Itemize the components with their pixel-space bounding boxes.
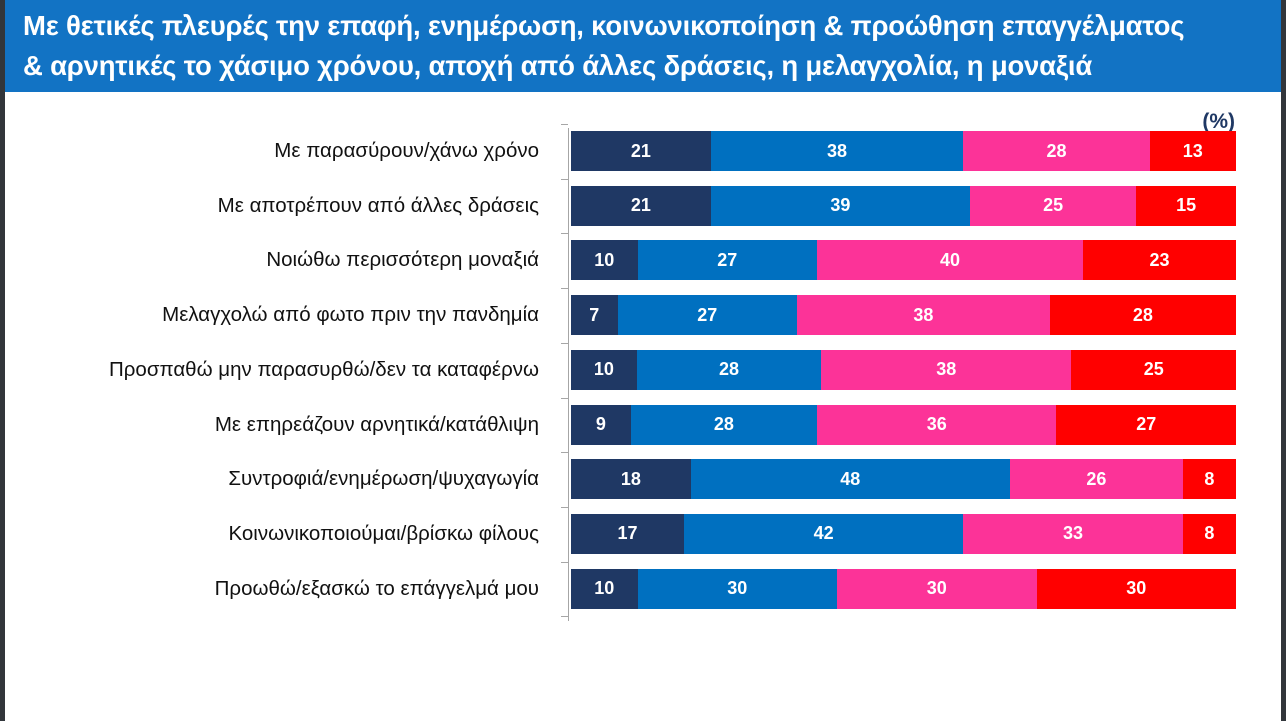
axis-tick [561, 124, 568, 125]
category-label: Με παρασύρουν/χάνω χρόνο [274, 131, 539, 171]
slide-title-line-1: Με θετικές πλευρές την επαφή, ενημέρωση,… [23, 6, 1267, 46]
slide-title-line-2: & αρνητικές το χάσιμο χρόνου, αποχή από … [23, 46, 1267, 86]
category-label: Προσπαθώ μην παρασυρθώ/δεν τα καταφέρνω [109, 350, 539, 390]
bar-segment-value: 38 [827, 141, 847, 162]
bar-segment: 23 [1083, 240, 1236, 280]
category-label: Προωθώ/εξασκώ το επάγγελμά μου [215, 569, 539, 609]
bar-segment: 27 [1056, 405, 1236, 445]
bar-segment: 9 [571, 405, 631, 445]
bar-segment-value: 17 [618, 523, 638, 544]
axis-tick [561, 233, 568, 234]
axis-tick [561, 616, 568, 617]
bar-segment: 10 [571, 569, 638, 609]
bar-segment-value: 21 [631, 195, 651, 216]
bar-segment: 42 [684, 514, 963, 554]
bar-segment-value: 10 [594, 359, 614, 380]
bar-segment: 38 [711, 131, 964, 171]
bar-segment-value: 7 [589, 305, 599, 326]
bar-segment: 40 [817, 240, 1083, 280]
category-label: Μελαγχολώ από φωτο πριν την πανδημία [162, 295, 539, 335]
bar-segment-value: 30 [727, 578, 747, 599]
chart-area: (%) Με παρασύρουν/χάνω χρόνοΜε αποτρέπου… [5, 92, 1281, 721]
axis-tick [561, 452, 568, 453]
bar-segment: 28 [1050, 295, 1236, 335]
bar-row: 21392515 [571, 186, 1236, 226]
bar-segment: 17 [571, 514, 684, 554]
bar-segment: 30 [638, 569, 838, 609]
bar-segment-value: 25 [1043, 195, 1063, 216]
bar-segment: 28 [963, 131, 1149, 171]
bar-segment: 39 [711, 186, 970, 226]
bar-segment-value: 25 [1144, 359, 1164, 380]
bar-segment-value: 10 [594, 250, 614, 271]
bar-segment: 10 [571, 240, 638, 280]
axis-tick [561, 562, 568, 563]
bar-segment-value: 39 [830, 195, 850, 216]
bar-row: 9283627 [571, 405, 1236, 445]
bar-segment-value: 23 [1150, 250, 1170, 271]
bar-segment: 18 [571, 459, 691, 499]
bar-segment: 27 [618, 295, 798, 335]
bar-segment-value: 30 [927, 578, 947, 599]
bar-segment: 25 [970, 186, 1136, 226]
bar-segment-value: 28 [714, 414, 734, 435]
bar-segment-value: 15 [1176, 195, 1196, 216]
bar-segment-value: 28 [719, 359, 739, 380]
bar-segment: 8 [1183, 459, 1236, 499]
bar-segment-value: 33 [1063, 523, 1083, 544]
bar-segment: 21 [571, 186, 711, 226]
bar-segment-value: 40 [940, 250, 960, 271]
axis-tick [561, 179, 568, 180]
bar-row: 7273828 [571, 295, 1236, 335]
bar-segment-value: 48 [840, 469, 860, 490]
bar-segment: 38 [821, 350, 1071, 390]
bar-segment-value: 10 [594, 578, 614, 599]
bar-segment-value: 9 [596, 414, 606, 435]
bar-segment: 13 [1150, 131, 1236, 171]
bar-segment: 10 [571, 350, 637, 390]
bar-segment-value: 28 [1046, 141, 1066, 162]
axis-tick [561, 343, 568, 344]
bar-segment-value: 27 [717, 250, 737, 271]
bar-row: 10283825 [571, 350, 1236, 390]
axis-tick [561, 398, 568, 399]
bar-segment: 21 [571, 131, 711, 171]
bar-segment-value: 27 [697, 305, 717, 326]
category-label: Συντροφιά/ενημέρωση/ψυχαγωγία [228, 459, 539, 499]
slide-title-bar: Με θετικές πλευρές την επαφή, ενημέρωση,… [5, 0, 1281, 92]
bar-row: 10303030 [571, 569, 1236, 609]
bar-segment: 33 [963, 514, 1182, 554]
bar-segment-value: 18 [621, 469, 641, 490]
bar-segment-value: 21 [631, 141, 651, 162]
bar-segment-value: 38 [913, 305, 933, 326]
bar-segment-value: 30 [1126, 578, 1146, 599]
bar-segment-value: 13 [1183, 141, 1203, 162]
bar-row: 21382813 [571, 131, 1236, 171]
bar-segment: 38 [797, 295, 1050, 335]
category-label: Νοιώθω περισσότερη μοναξιά [266, 240, 539, 280]
slide: Με θετικές πλευρές την επαφή, ενημέρωση,… [0, 0, 1286, 721]
category-axis-labels: Με παρασύρουν/χάνω χρόνοΜε αποτρέπουν απ… [5, 128, 553, 621]
axis-tick [561, 288, 568, 289]
bar-segment: 36 [817, 405, 1056, 445]
bar-segment: 48 [691, 459, 1010, 499]
bar-segment-value: 38 [936, 359, 956, 380]
bar-row: 10274023 [571, 240, 1236, 280]
category-label: Με αποτρέπουν από άλλες δράσεις [218, 186, 539, 226]
bar-row: 1742338 [571, 514, 1236, 554]
bar-segment-value: 8 [1204, 469, 1214, 490]
bar-segment-value: 42 [814, 523, 834, 544]
bar-segment: 30 [837, 569, 1037, 609]
value-axis-line [568, 128, 569, 621]
bar-segment: 15 [1136, 186, 1236, 226]
stacked-bar-plot: 2138281321392515102740237273828102838259… [568, 128, 1236, 621]
bar-segment-value: 36 [927, 414, 947, 435]
bar-segment: 25 [1071, 350, 1236, 390]
bar-segment: 28 [631, 405, 817, 445]
bar-segment: 28 [637, 350, 821, 390]
bar-segment: 26 [1010, 459, 1183, 499]
axis-tick [561, 507, 568, 508]
bar-segment-value: 28 [1133, 305, 1153, 326]
bar-segment: 7 [571, 295, 618, 335]
category-label: Κοινωνικοποιούμαι/βρίσκω φίλους [228, 514, 539, 554]
bar-segment: 8 [1183, 514, 1236, 554]
bar-segment-value: 26 [1086, 469, 1106, 490]
bar-row: 1848268 [571, 459, 1236, 499]
bar-segment: 30 [1037, 569, 1237, 609]
bar-segment-value: 27 [1136, 414, 1156, 435]
bar-segment-value: 8 [1204, 523, 1214, 544]
category-label: Με επηρεάζουν αρνητικά/κατάθλιψη [215, 405, 539, 445]
bar-segment: 27 [638, 240, 818, 280]
